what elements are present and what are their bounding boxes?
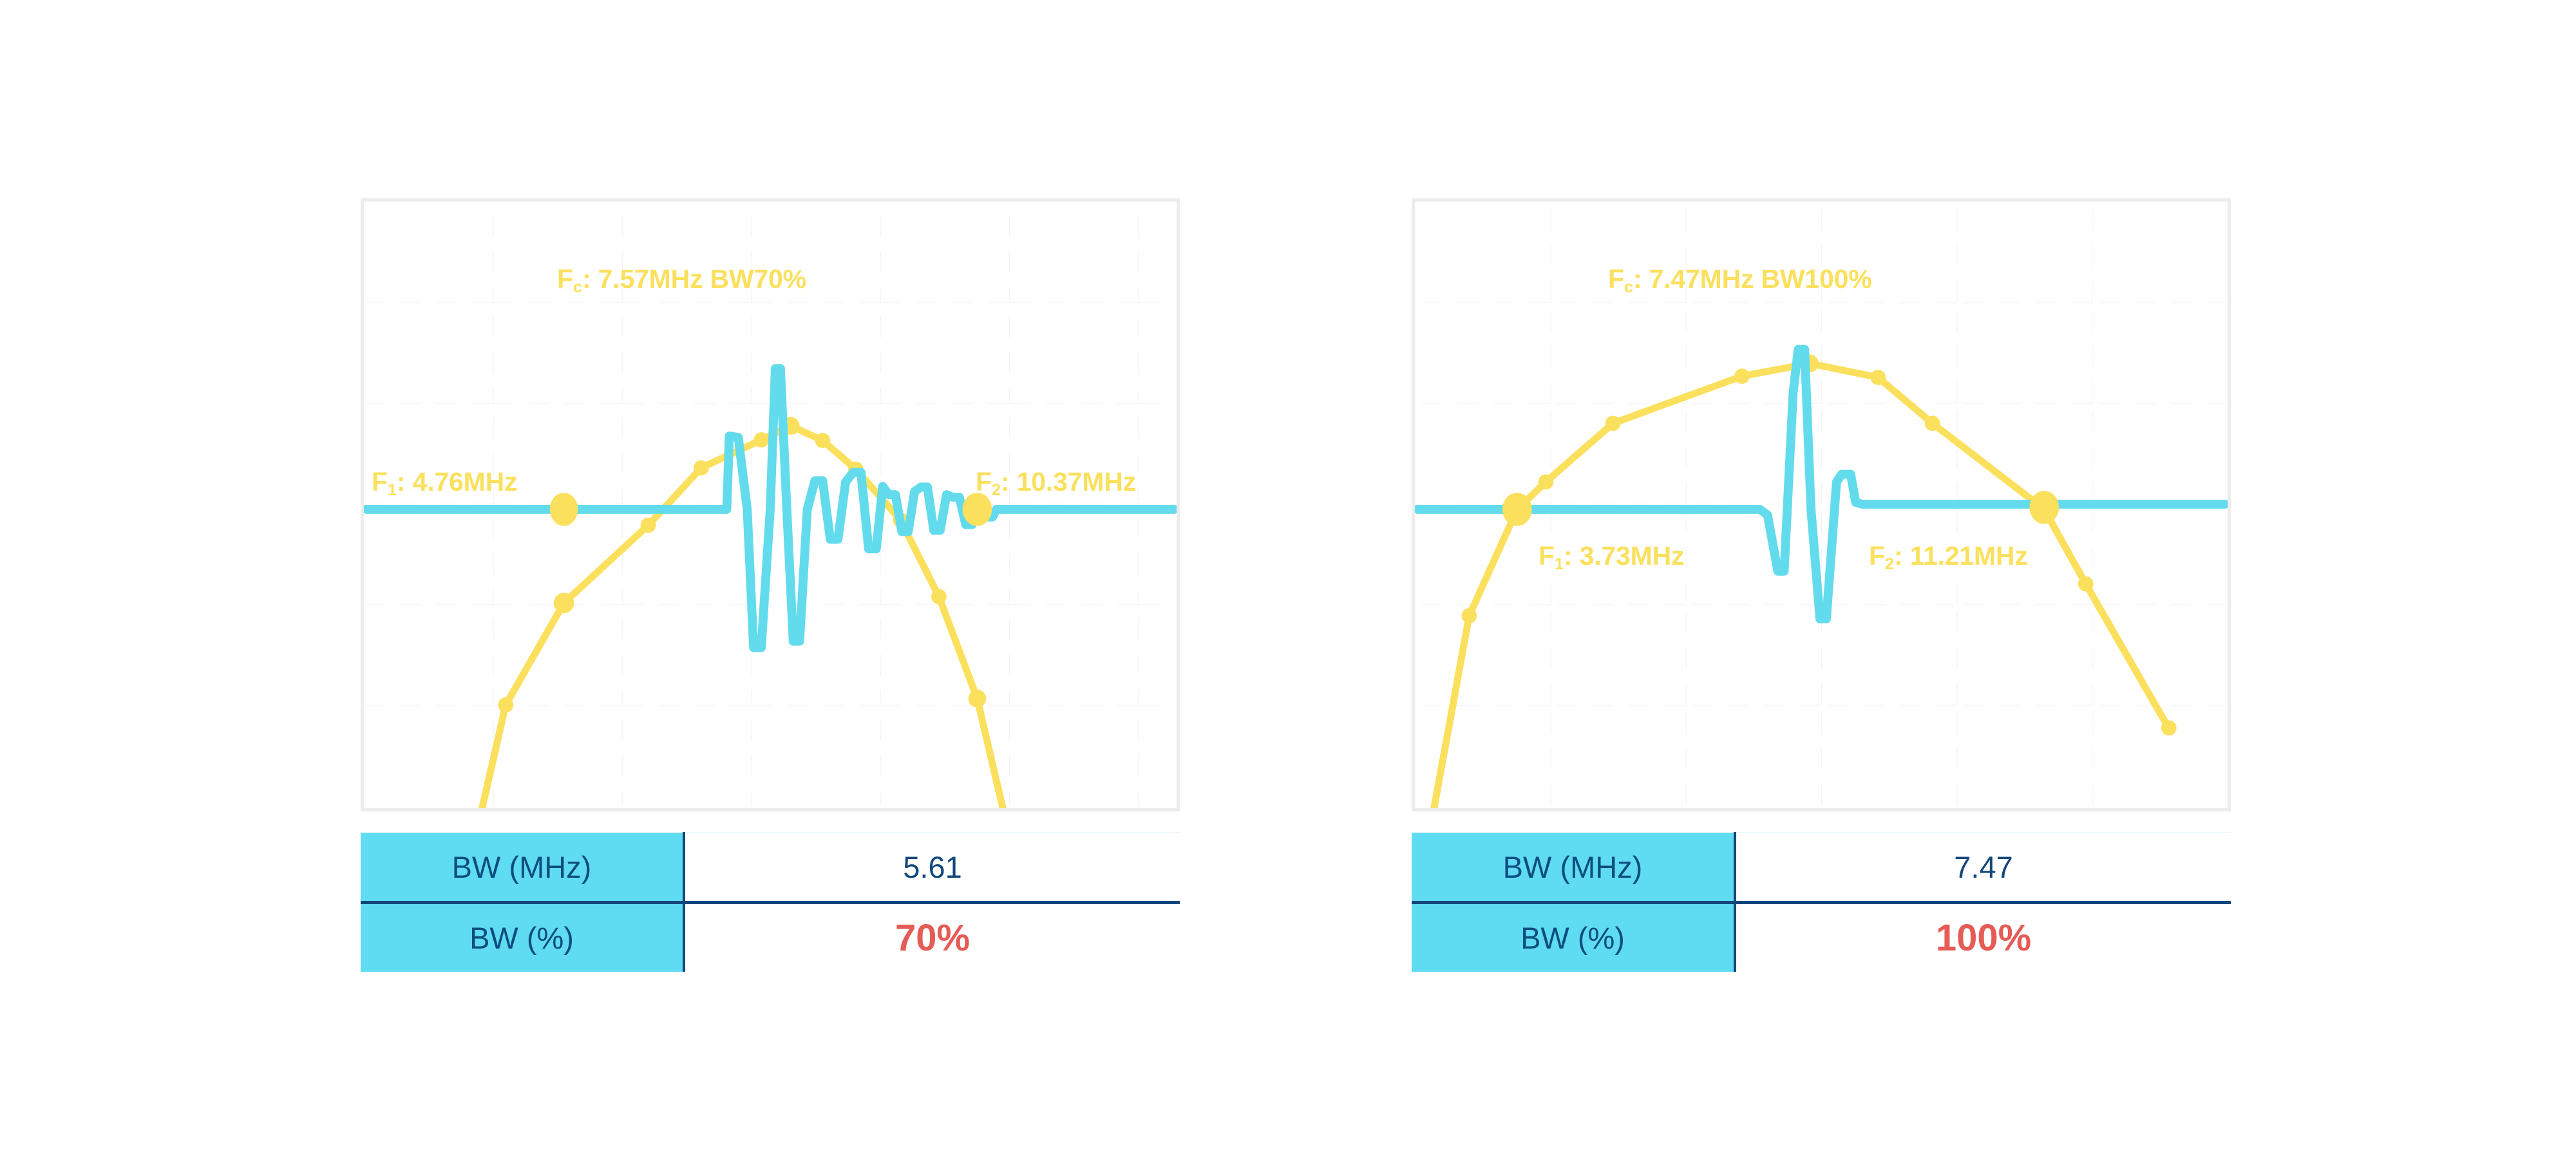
f1-subscript: 1 — [1555, 555, 1564, 573]
annotation-center-frequency: Fc: 7.47MHz BW100% — [1608, 266, 1871, 292]
bw-mhz-value: 5.61 — [684, 833, 1180, 903]
page-canvas: Fc: 7.57MHz BW70% F1: 4.76MHz F2: 10.37M… — [0, 0, 2576, 1154]
f2-symbol: F — [1869, 541, 1885, 571]
f2-text: : 10.37MHz — [1001, 467, 1136, 497]
bw-percent-label: BW (%) — [361, 903, 684, 972]
annotation-upper-frequency: F2: 10.37MHz — [976, 469, 1136, 495]
bw-percent-value: 70% — [684, 903, 1180, 972]
panel-left: Fc: 7.57MHz BW70% F1: 4.76MHz F2: 10.37M… — [361, 198, 1180, 972]
bw-mhz-label: BW (MHz) — [1412, 833, 1735, 903]
f2-subscript: 2 — [992, 481, 1001, 499]
bw-mhz-value: 7.47 — [1735, 833, 2231, 903]
f2-marker — [2029, 491, 2059, 524]
fc-text: : 7.47MHz BW100% — [1633, 264, 1871, 294]
annotation-upper-frequency: F2: 11.21MHz — [1869, 543, 2028, 569]
table-row: BW (%) 100% — [1412, 903, 2231, 972]
f1-subscript: 1 — [388, 481, 397, 499]
fc-symbol: F — [1608, 264, 1624, 294]
f1-text: : 3.73MHz — [1564, 541, 1684, 571]
f1-text: : 4.76MHz — [397, 467, 517, 497]
f2-marker — [963, 493, 992, 525]
bw-percent-value: 100% — [1735, 903, 2231, 972]
f2-text: : 11.21MHz — [1894, 541, 2028, 571]
table-row: BW (MHz) 7.47 — [1412, 833, 2231, 903]
chart-right: Fc: 7.47MHz BW100% F1: 3.73MHz F2: 11.21… — [1412, 198, 2231, 811]
chart-left: Fc: 7.57MHz BW70% F1: 4.76MHz F2: 10.37M… — [361, 198, 1180, 811]
fc-symbol: F — [557, 264, 573, 294]
fc-subscript: c — [573, 278, 582, 296]
panel-right: Fc: 7.47MHz BW100% F1: 3.73MHz F2: 11.21… — [1412, 198, 2231, 972]
table-row: BW (MHz) 5.61 — [361, 833, 1180, 903]
f2-subscript: 2 — [1885, 555, 1894, 573]
f1-symbol: F — [372, 467, 388, 497]
annotation-center-frequency: Fc: 7.57MHz BW70% — [557, 266, 806, 292]
annotation-lower-frequency: F1: 4.76MHz — [372, 469, 517, 495]
bw-mhz-label: BW (MHz) — [361, 833, 684, 903]
bandwidth-table-left: BW (MHz) 5.61 BW (%) 70% — [361, 832, 1180, 972]
bw-percent-label: BW (%) — [1412, 903, 1735, 972]
f1-marker — [550, 493, 578, 525]
fc-subscript: c — [1624, 278, 1633, 296]
f1-symbol: F — [1539, 541, 1555, 571]
f2-symbol: F — [976, 467, 992, 497]
f1-marker — [1502, 493, 1532, 525]
fc-text: : 7.57MHz BW70% — [582, 264, 806, 294]
bandwidth-table-right: BW (MHz) 7.47 BW (%) 100% — [1412, 832, 2231, 972]
annotation-lower-frequency: F1: 3.73MHz — [1539, 543, 1684, 569]
table-row: BW (%) 70% — [361, 903, 1180, 972]
